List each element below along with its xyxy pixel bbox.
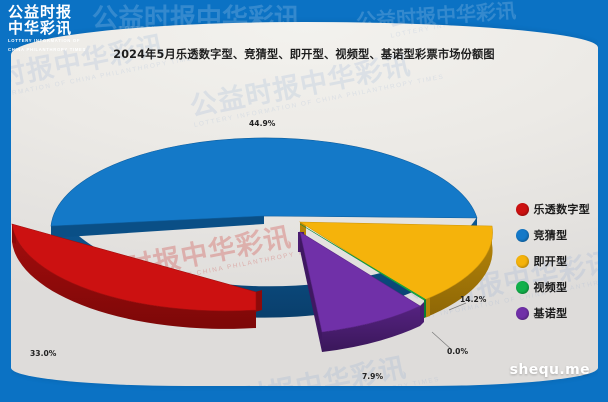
data-label-jikaixing: 14.2%: [460, 295, 486, 304]
data-label-letoushuzixing: 33.0%: [30, 349, 56, 358]
logo-line-1: 公益时报: [8, 4, 86, 20]
chart-title: 2024年5月乐透数字型、竞猜型、即开型、视频型、基诺型彩票市场份额图: [0, 46, 608, 62]
site-watermark: shequ.me: [510, 362, 590, 378]
legend-item-shipinxing[interactable]: 视频型: [516, 274, 591, 300]
legend-item-letoushuzixing[interactable]: 乐透数字型: [516, 196, 591, 222]
chart-legend: 乐透数字型 竞猜型 即开型 视频型 基诺型: [516, 196, 591, 326]
frame-right: [598, 0, 608, 402]
data-label-shipinxing: 0.0%: [447, 347, 468, 356]
legend-swatch-icon: [516, 255, 529, 268]
data-label-jingcaixing: 44.9%: [249, 119, 275, 128]
legend-swatch-icon: [516, 307, 529, 320]
legend-label: 乐透数字型: [534, 201, 591, 217]
frame-left: [0, 0, 11, 402]
chart-screenshot: 公益时报中华彩讯 LOTTERY INFORMATION OF CHINA PH…: [0, 0, 608, 402]
legend-swatch-icon: [516, 229, 529, 242]
legend-item-jikaixing[interactable]: 即开型: [516, 248, 591, 274]
brand-logo: 公益时报 中华彩讯 LOTTERY INFORMATION OF CHINA P…: [8, 4, 86, 53]
data-label-jinuoxing: 7.9%: [362, 372, 383, 381]
legend-swatch-icon: [516, 203, 529, 216]
legend-label: 即开型: [534, 253, 568, 269]
logo-subtitle-2: CHINA PHILANTHROPY TIMES: [8, 47, 86, 53]
legend-item-jinuoxing[interactable]: 基诺型: [516, 300, 591, 326]
logo-subtitle-1: LOTTERY INFORMATION OF: [8, 38, 86, 44]
legend-swatch-icon: [516, 281, 529, 294]
pie-slice-letoushuzixing[interactable]: [12, 224, 262, 329]
legend-item-jingcaixing[interactable]: 竞猜型: [516, 222, 591, 248]
legend-label: 竞猜型: [534, 227, 568, 243]
legend-label: 视频型: [534, 279, 568, 295]
logo-line-2: 中华彩讯: [8, 20, 86, 36]
legend-label: 基诺型: [534, 305, 568, 321]
